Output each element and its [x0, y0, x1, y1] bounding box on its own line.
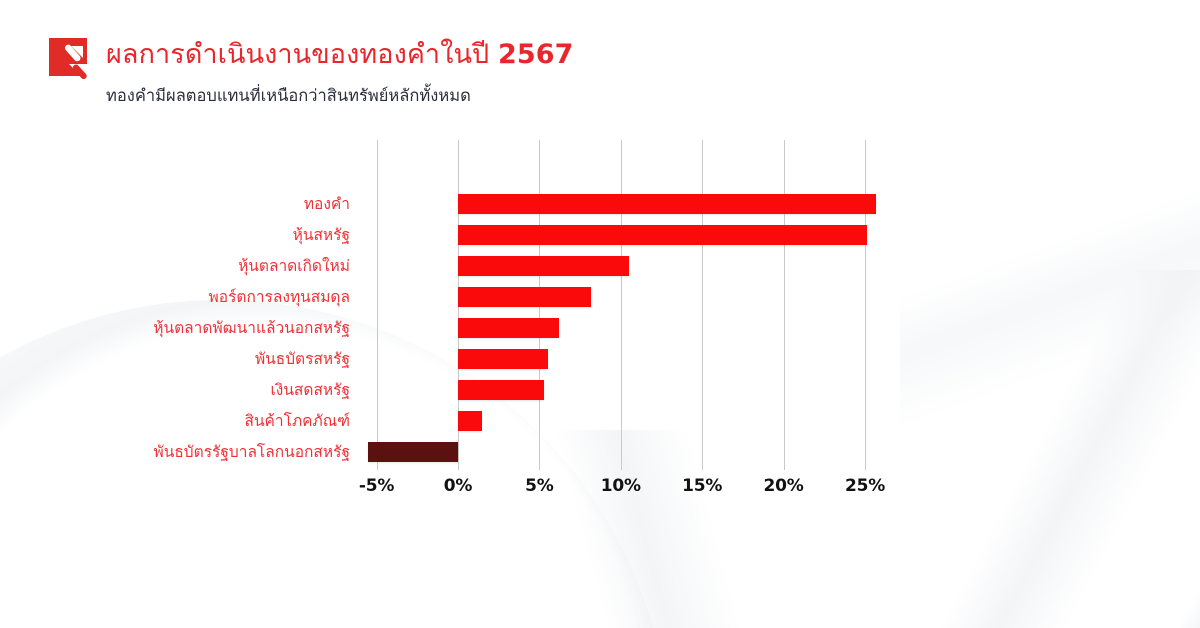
- gridline-25: [865, 140, 866, 470]
- gridline-minus5: [377, 140, 378, 470]
- gridline-15: [702, 140, 703, 470]
- bar-0: [458, 194, 876, 214]
- x-tick-label-3: 10%: [601, 476, 641, 496]
- category-label-7: สินค้าโภคภัณฑ์: [244, 411, 350, 431]
- category-label-2: หุ้นตลาดเกิดใหม่: [238, 256, 350, 276]
- category-label-4: หุ้นตลาดพัฒนาแล้วนอกสหรัฐ: [153, 318, 350, 338]
- infographic-canvas: ผลการดำเนินงานของทองคำในปี 2567 ทองคำมีผ…: [0, 0, 1200, 628]
- bar-2: [458, 256, 629, 276]
- category-label-0: ทองคำ: [304, 194, 350, 214]
- gridline-20: [784, 140, 785, 470]
- bar-5: [458, 349, 548, 369]
- category-label-8: พันธบัตรรัฐบาลโลกนอกสหรัฐ: [154, 442, 350, 462]
- category-label-1: หุ้นสหรัฐ: [293, 225, 350, 245]
- bar-3: [458, 287, 591, 307]
- gridline-10: [621, 140, 622, 470]
- x-tick-label-5: 20%: [764, 476, 804, 496]
- bar-chart-plot: ทองคำหุ้นสหรัฐหุ้นตลาดเกิดใหม่พอร์ตการลง…: [0, 0, 1200, 628]
- category-label-6: เงินสดสหรัฐ: [270, 380, 350, 400]
- x-tick-label-4: 15%: [682, 476, 722, 496]
- x-tick-label-6: 25%: [845, 476, 885, 496]
- bar-4: [458, 318, 559, 338]
- bar-7: [458, 411, 482, 431]
- bar-1: [458, 225, 867, 245]
- category-label-3: พอร์ตการลงทุนสมดุล: [209, 287, 350, 307]
- x-tick-label-2: 5%: [525, 476, 553, 496]
- bar-8: [368, 442, 458, 462]
- bar-6: [458, 380, 544, 400]
- x-tick-label-0: -5%: [359, 476, 394, 496]
- category-label-5: พันธบัตรสหรัฐ: [255, 349, 350, 369]
- x-tick-label-1: 0%: [444, 476, 472, 496]
